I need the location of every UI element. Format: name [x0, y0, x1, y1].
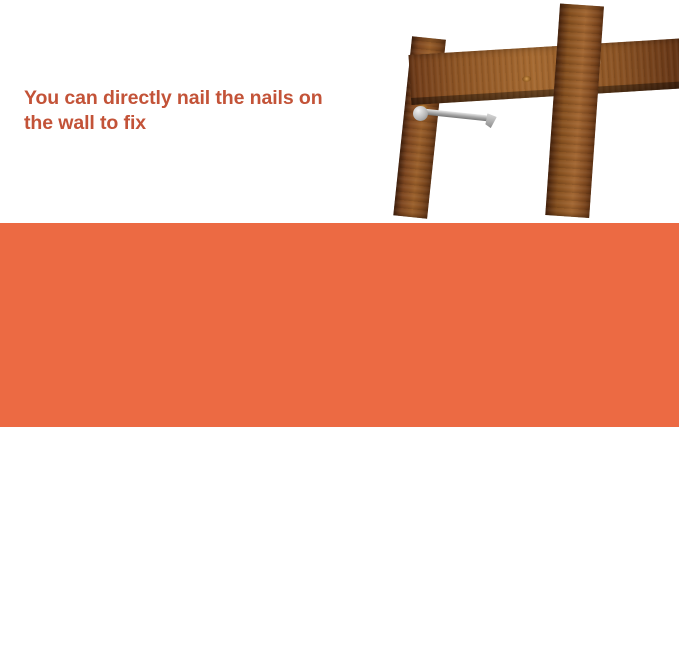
- section-tie-to-fence: Finally, it can also be tied directly to…: [0, 427, 679, 646]
- wood-knot: [522, 76, 531, 83]
- section-nail-to-wall: You can directly nail the nails on the w…: [0, 0, 679, 223]
- fence-horizontal-rail: [408, 38, 679, 105]
- fence-vertical-slat-right: [545, 3, 604, 218]
- caption-nail-to-wall: You can directly nail the nails on the w…: [24, 86, 354, 137]
- section-wall-hooks: For objects with relatively light weight…: [0, 223, 679, 427]
- product-instruction-infographic: You can directly nail the nails on the w…: [0, 0, 679, 646]
- wooden-fence-rail-with-nail-photo: [400, 0, 679, 215]
- nail-head: [413, 106, 428, 121]
